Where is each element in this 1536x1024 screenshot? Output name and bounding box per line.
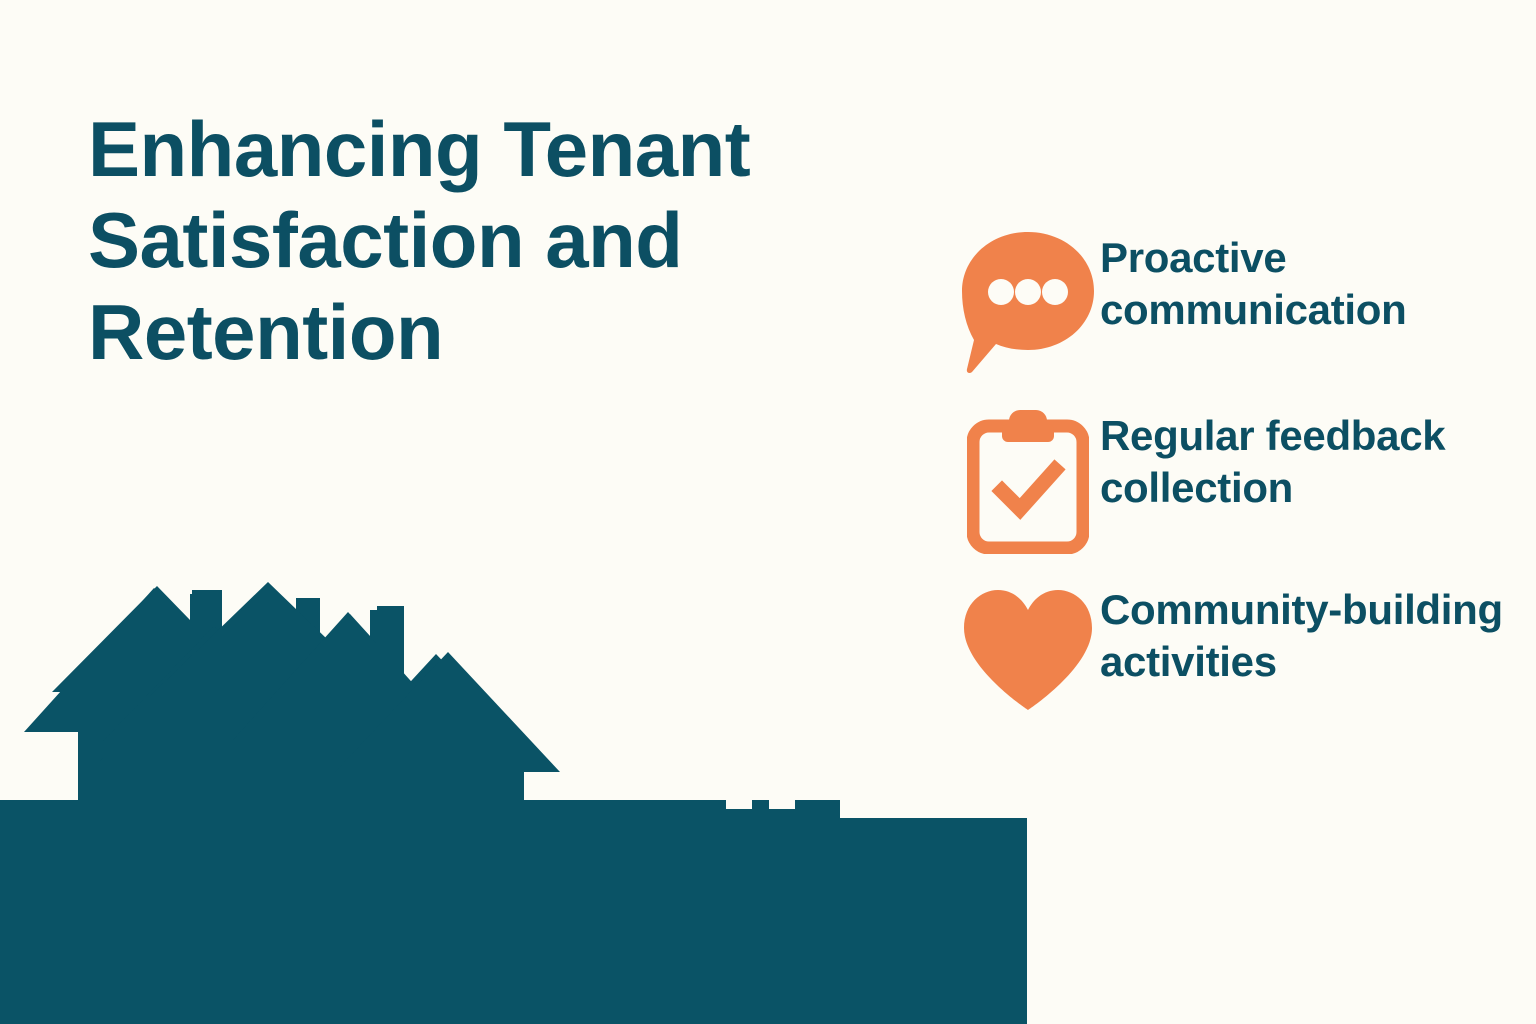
feature-list: Proactive communication Regular feedback… [955, 222, 1525, 714]
page-title: Enhancing Tenant Satisfaction and Retent… [88, 104, 988, 378]
list-item: Community-building activities [955, 582, 1525, 714]
houses-silhouette-detail [0, 564, 1040, 1024]
list-item-label: Regular feedback collection [1100, 408, 1525, 513]
list-item-label: Community-building activities [1100, 582, 1525, 687]
clipboard-check-icon [955, 408, 1100, 554]
heart-icon [955, 582, 1100, 714]
slide-canvas: Enhancing Tenant Satisfaction and Retent… [0, 0, 1536, 1024]
list-item-label: Proactive communication [1100, 230, 1525, 335]
list-item: Regular feedback collection [955, 408, 1525, 554]
list-item: Proactive communication [955, 222, 1525, 376]
speech-bubble-dots-icon [955, 222, 1100, 376]
